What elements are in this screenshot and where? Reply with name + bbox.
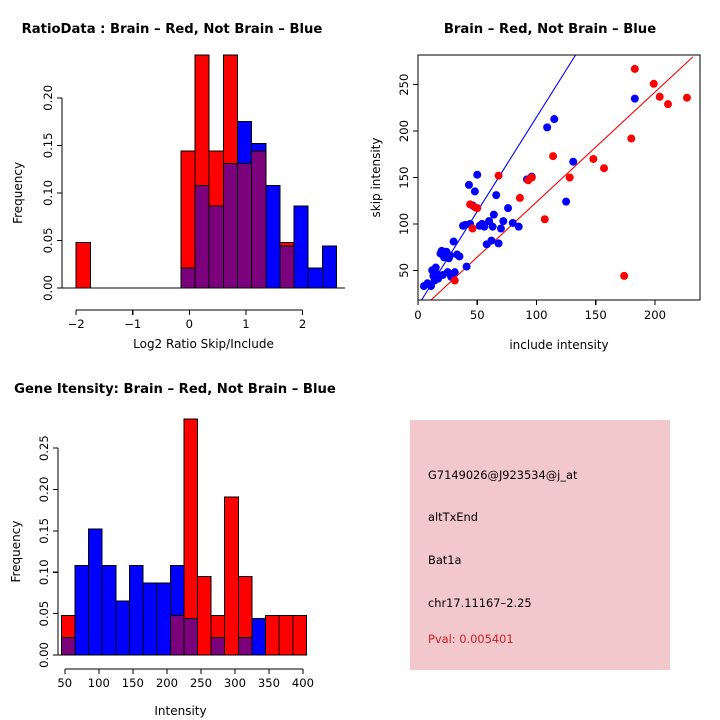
x-tick-label: 0 [414,308,421,322]
y-tick-label: 0.05 [37,601,51,627]
x-tick-label: 1 [242,317,249,331]
scatter-point [664,100,672,108]
x-tick-label: 150 [585,308,607,322]
svg-ratio-histogram-bars [76,55,336,288]
x-tick-label: 400 [292,676,314,690]
scatter-point [683,94,691,102]
y-tick-label: 0.00 [37,642,51,668]
scatter-point [562,198,570,206]
histogram-bar [293,615,307,655]
histogram-bar-overlap [280,246,294,288]
y-tick-label: 0.10 [41,180,55,206]
scatter-point [650,80,658,88]
svg-gene-intensity-histogram-xlabel: Intensity [154,704,206,718]
gene-intensity-histogram-chart: Gene Itensity: Brain – Red, Not Brain – … [0,360,360,720]
scatter-point [566,174,574,182]
event-type: altTxEnd [428,510,478,524]
x-tick-label: 200 [644,308,666,322]
histogram-bar [266,185,280,288]
scatter-point [541,215,549,223]
svg-ratio-histogram-title: RatioData : Brain – Red, Not Brain – Blu… [22,22,323,37]
histogram-bar [279,615,293,655]
scatter-point [473,204,481,212]
scatter-point [451,268,459,276]
panel-intensity-scatter: Brain – Red, Not Brain – Blue50100150200… [360,0,720,360]
svg-intensity-scatter-xlabel: include intensity [509,338,608,352]
scatter-point [516,194,524,202]
panel-gene-intensity-histogram: Gene Itensity: Brain – Red, Not Brain – … [0,360,360,720]
svg-intensity-scatter-title: Brain – Red, Not Brain – Blue [444,22,656,37]
scatter-point [469,225,477,233]
scatter-point [495,239,503,247]
figure-panel-grid: RatioData : Brain – Red, Not Brain – Blu… [0,0,720,720]
y-tick-label: 0.05 [41,228,55,254]
histogram-bar [198,576,212,655]
scatter-point [490,211,498,219]
y-tick-label: 0.00 [41,275,55,301]
svg-gene-intensity-histogram-title: Gene Itensity: Brain – Red, Not Brain – … [14,382,336,397]
histogram-bar [181,151,195,288]
panel-probe-info: G7149026@J923534@j_ataltTxEndBat1achr17.… [360,360,720,720]
histogram-bar [76,242,90,288]
panel-ratio-histogram: RatioData : Brain – Red, Not Brain – Blu… [0,0,360,360]
histogram-bar [308,268,322,288]
scatter-point [471,187,479,195]
histogram-bar [116,601,130,655]
x-tick-label: 2 [299,317,306,331]
x-tick-label: 200 [156,676,178,690]
histogram-bar [322,246,336,288]
scatter-series-Not-Brain---Blue [420,95,639,290]
histogram-bar-overlap [238,638,252,655]
histogram-bar [75,566,89,655]
scatter-point [489,223,497,231]
y-tick-label: 200 [397,120,411,142]
svg-ratio-histogram-xlabel: Log2 Ratio Skip/Include [133,337,274,351]
scatter-point [495,172,503,180]
histogram-bar-overlap [195,185,209,288]
scatter-point [569,158,577,166]
scatter-point [465,181,473,189]
histogram-bar [89,529,103,655]
svg-gene-intensity-histogram-bars [61,419,306,655]
x-tick-label: 50 [57,676,72,690]
histogram-bar-overlap [223,163,237,288]
histogram-bar [102,566,116,655]
pvalue: Pval: 0.005401 [428,632,514,646]
probe-info-panel: G7149026@J923534@j_ataltTxEndBat1achr17.… [410,420,670,670]
scatter-series-Brain---Red [451,65,691,285]
scatter-point [446,251,454,259]
svg-intensity-scatter-ylabel: skip intensity [369,138,383,218]
svg-gene-intensity-histogram-ylabel: Frequency [9,521,23,583]
scatter-point [631,65,639,73]
scatter-point [450,238,458,246]
histogram-bar [294,206,308,288]
scatter-point [487,237,495,245]
intensity-scatter-chart: Brain – Red, Not Brain – Blue50100150200… [360,0,720,360]
x-tick-label: −2 [68,317,85,331]
x-tick-label: 100 [88,676,110,690]
y-tick-label: 0.20 [37,477,51,503]
scatter-point [550,115,558,123]
histogram-bar [225,497,239,655]
scatter-point [620,272,628,280]
y-tick-label: 100 [397,213,411,235]
histogram-bar-overlap [170,615,184,655]
scatter-point [497,225,505,233]
y-tick-label: 0.15 [37,518,51,544]
histogram-bar-overlap [184,619,198,655]
scatter-point [492,191,500,199]
y-tick-label: 0.15 [41,132,55,158]
genomic-location: chr17.11167–2.25 [428,596,532,610]
histogram-bar-overlap [211,638,225,655]
x-tick-label: 300 [224,676,246,690]
ratio-histogram-chart: RatioData : Brain – Red, Not Brain – Blu… [0,0,360,360]
x-tick-label: 100 [525,308,547,322]
histogram-bar-overlap [181,268,195,288]
x-tick-label: −1 [124,317,141,331]
histogram-bar [252,619,266,655]
probe-id: G7149026@J923534@j_at [428,468,578,482]
scatter-point [549,152,557,160]
x-tick-label: 350 [258,676,280,690]
x-tick-label: 50 [470,308,485,322]
scatter-point [600,164,608,172]
y-tick-label: 0.10 [37,559,51,585]
scatter-point [656,93,664,101]
fit-line-red-fit [431,57,693,300]
scatter-point [451,277,459,285]
y-tick-label: 0.20 [41,85,55,111]
y-tick-label: 250 [397,74,411,96]
y-tick-label: 0.25 [37,435,51,461]
histogram-bar-overlap [61,638,75,655]
svg-intensity-scatter-frame [418,55,700,300]
scatter-point [473,171,481,179]
scatter-point [463,263,471,271]
svg-intensity-scatter-plot-area [420,55,693,300]
x-tick-label: 150 [122,676,144,690]
histogram-bar [266,615,280,655]
histogram-bar-overlap [237,163,251,288]
scatter-point [455,252,463,260]
histogram-bar-overlap [252,151,266,288]
scatter-point [543,123,551,131]
histogram-bar-overlap [209,206,223,288]
x-tick-label: 0 [186,317,193,331]
y-tick-label: 150 [397,166,411,188]
histogram-bar [129,566,143,655]
scatter-point [515,223,523,231]
scatter-point [631,95,639,103]
scatter-point [504,204,512,212]
y-tick-label: 50 [397,263,411,278]
scatter-point [499,217,507,225]
scatter-point [627,135,635,143]
scatter-point [528,174,536,182]
histogram-bar [157,583,171,655]
x-tick-label: 250 [190,676,212,690]
gene-symbol: Bat1a [428,553,462,567]
histogram-bar [143,583,157,655]
scatter-point [589,155,597,163]
svg-ratio-histogram-ylabel: Frequency [11,162,25,224]
